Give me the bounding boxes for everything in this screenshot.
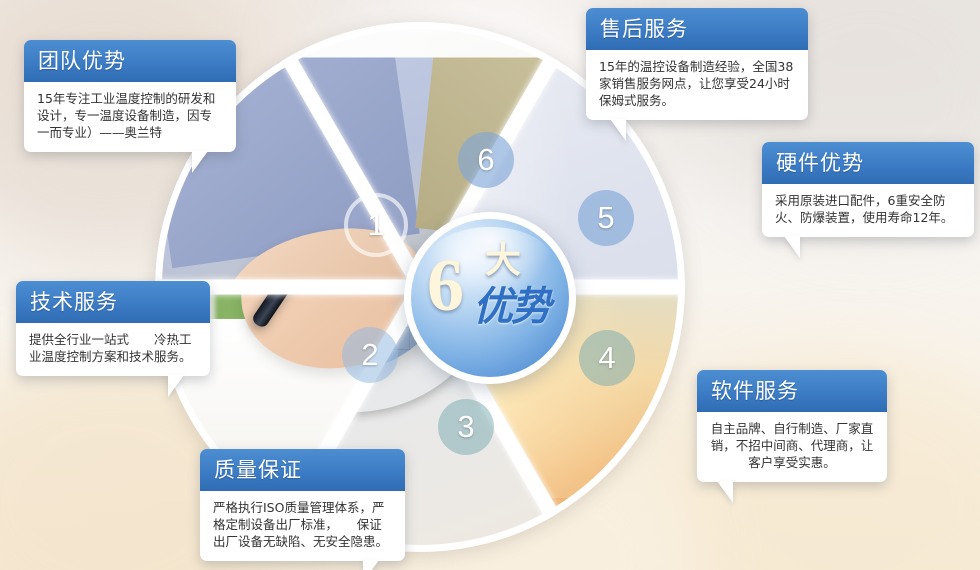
callout-quality-assurance[interactable]: 质量保证 严格执行ISO质量管理体系，严格定制设备出厂标准， 保证出厂设备无缺陷… xyxy=(200,449,405,561)
callout-team-header: 团队优势 xyxy=(24,40,236,82)
callout-after-sales[interactable]: 售后服务 15年的温控设备制造经验，全国38家销售服务网点，让您享受24小时保姆… xyxy=(586,8,808,120)
center-word: 优势 xyxy=(473,285,549,329)
callout-hardware-body: 采用原装进口配件，6重安全防火、防爆装置，使用寿命12年。 xyxy=(762,184,974,237)
callout-team-advantage[interactable]: 团队优势 15年专注工业温度控制的研发和设计，专一温度设备制造，因专一而专业）—… xyxy=(24,40,236,152)
callout-quality-title: 质量保证 xyxy=(214,458,302,482)
badge-6-label: 6 xyxy=(477,142,494,178)
badge-1[interactable]: 1 xyxy=(344,193,408,257)
badge-5-label: 5 xyxy=(597,200,614,236)
center-number: 6 xyxy=(427,249,464,323)
callout-software-body: 自主品牌、自行制造、厂家直销，不招中间商、代理商，让客户享受实惠。 xyxy=(697,412,887,482)
callout-tail xyxy=(784,236,800,258)
badge-2-label: 2 xyxy=(361,337,378,373)
callout-tail xyxy=(363,560,379,570)
badge-3-label: 3 xyxy=(457,409,474,445)
callout-software-header: 软件服务 xyxy=(697,370,887,412)
callout-software-title: 软件服务 xyxy=(711,379,799,403)
callout-tail xyxy=(192,151,208,173)
callout-team-body: 15年专注工业温度控制的研发和设计，专一温度设备制造，因专一而专业）——奥兰特 xyxy=(24,82,236,152)
badge-5[interactable]: 5 xyxy=(578,190,634,246)
callout-tail xyxy=(168,375,184,397)
callout-technical-title: 技术服务 xyxy=(30,290,118,314)
callout-hardware-header: 硬件优势 xyxy=(762,142,974,184)
badge-3[interactable]: 3 xyxy=(438,399,494,455)
badge-6[interactable]: 6 xyxy=(458,132,514,188)
callout-technical-body: 提供全行业一站式 冷热工业温度控制方案和技术服务。 xyxy=(16,323,210,376)
badge-2[interactable]: 2 xyxy=(342,327,398,383)
callout-tail xyxy=(610,119,626,141)
callout-hardware-title: 硬件优势 xyxy=(776,151,864,175)
callout-tail xyxy=(717,481,733,503)
callout-quality-header: 质量保证 xyxy=(200,449,405,491)
callout-technical-service[interactable]: 技术服务 提供全行业一站式 冷热工业温度控制方案和技术服务。 xyxy=(16,281,210,376)
callout-software[interactable]: 软件服务 自主品牌、自行制造、厂家直销，不招中间商、代理商，让客户享受实惠。 xyxy=(697,370,887,482)
callout-hardware[interactable]: 硬件优势 采用原装进口配件，6重安全防火、防爆装置，使用寿命12年。 xyxy=(762,142,974,237)
callout-quality-body: 严格执行ISO质量管理体系，严格定制设备出厂标准， 保证出厂设备无缺陷、无安全隐… xyxy=(200,491,405,561)
badge-1-label: 1 xyxy=(367,207,384,243)
callout-after-sales-title: 售后服务 xyxy=(600,17,688,41)
callout-technical-header: 技术服务 xyxy=(16,281,210,323)
center-medallion: 6 大 优势 xyxy=(404,212,576,384)
callout-after-sales-body: 15年的温控设备制造经验，全国38家销售服务网点，让您享受24小时保姆式服务。 xyxy=(586,50,808,120)
badge-4[interactable]: 4 xyxy=(579,330,635,386)
callout-team-title: 团队优势 xyxy=(38,49,126,73)
callout-after-sales-header: 售后服务 xyxy=(586,8,808,50)
center-orb: 6 大 优势 xyxy=(411,219,569,377)
center-unit: 大 xyxy=(485,243,521,279)
badge-4-label: 4 xyxy=(598,340,615,376)
center-text-group: 6 大 优势 xyxy=(411,219,569,377)
infographic-canvas: 1 2 3 4 5 6 6 大 优势 团队优势 15年专注工业温度控制的研发和设… xyxy=(0,0,980,570)
